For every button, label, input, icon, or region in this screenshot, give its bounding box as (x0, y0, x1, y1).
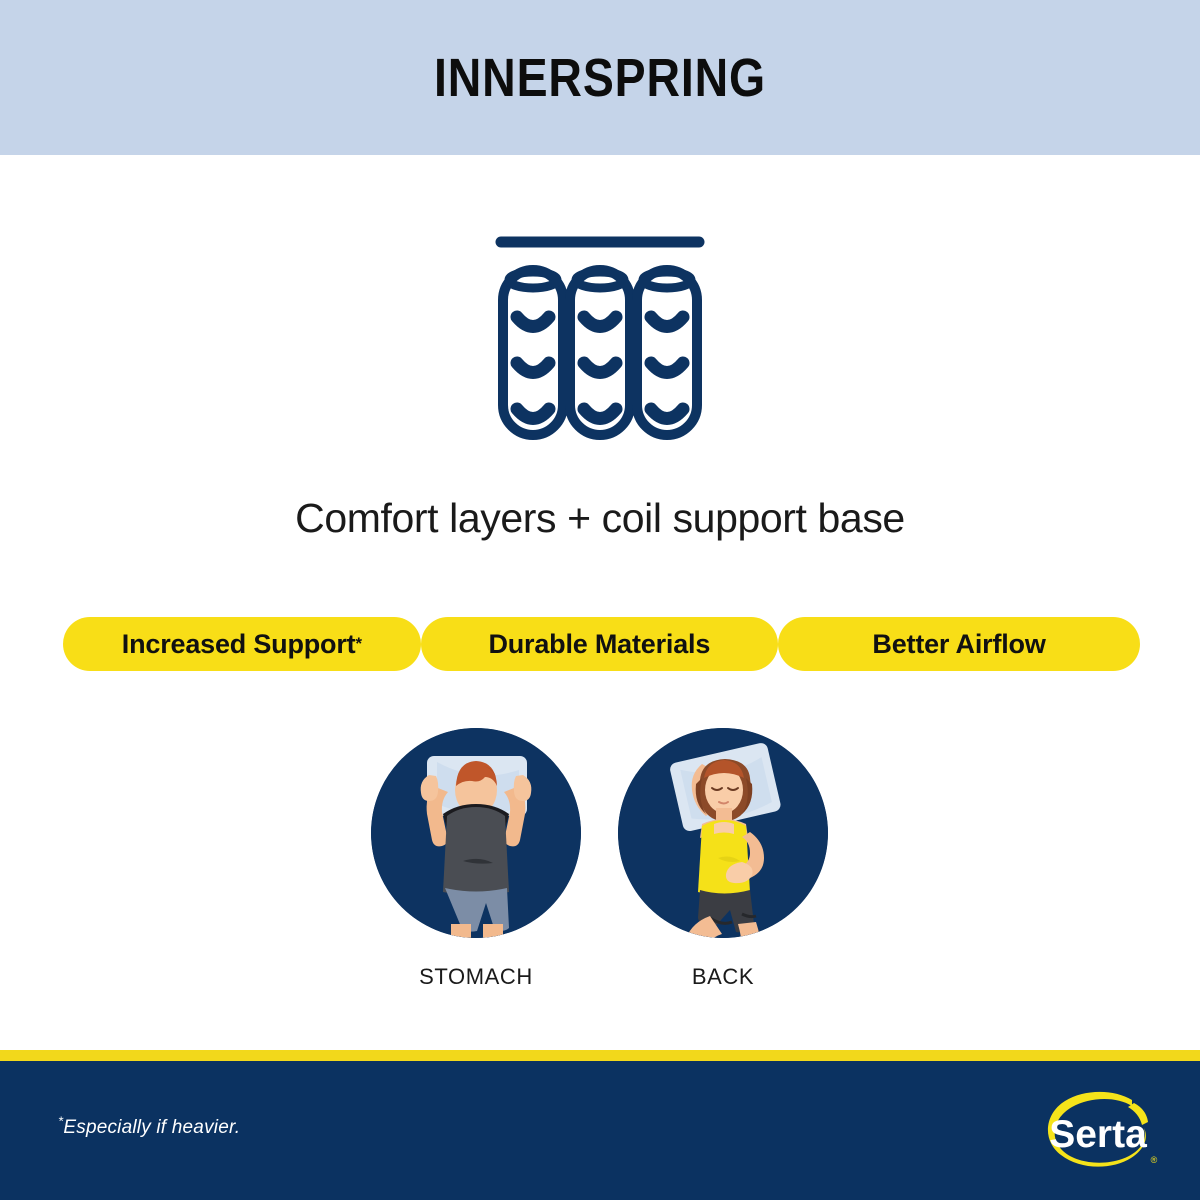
footer-accent-rule (0, 1050, 1200, 1061)
registered-trademark-mark: ® (1151, 1155, 1158, 1165)
serta-wordmark: Serta (1049, 1113, 1147, 1156)
feature-pill-increased-support[interactable]: Increased Support* (63, 617, 421, 671)
hero-subtitle: Comfort layers + coil support base (0, 495, 1200, 542)
back-sleeper-illustration (618, 728, 828, 938)
pocketed-coils-icon (480, 225, 720, 445)
sleep-position-back[interactable]: BACK (598, 728, 848, 990)
feature-pill-durable-materials[interactable]: Durable Materials (421, 617, 779, 671)
footnote-text: Especially if heavier. (63, 1117, 240, 1138)
feature-pill-label: Better Airflow (872, 629, 1045, 660)
header-band: INNERSPRING (0, 0, 1200, 155)
footnote: *Especially if heavier. (58, 1117, 240, 1139)
feature-pill-better-airflow[interactable]: Better Airflow (778, 617, 1140, 671)
stomach-sleeper-illustration (371, 728, 581, 938)
page-title: INNERSPRING (434, 47, 766, 109)
feature-pill-row: Increased Support* Durable Materials Bet… (63, 617, 1140, 671)
sleep-position-stomach[interactable]: STOMACH (351, 728, 601, 990)
serta-logo[interactable]: Serta ® (1036, 1085, 1166, 1181)
sleep-positions-section: STOMACH (0, 728, 1200, 1028)
feature-pill-label: Increased Support (122, 629, 356, 660)
sleep-position-label: BACK (598, 964, 848, 990)
sleep-position-label: STOMACH (351, 964, 601, 990)
feature-pill-label: Durable Materials (488, 629, 710, 660)
